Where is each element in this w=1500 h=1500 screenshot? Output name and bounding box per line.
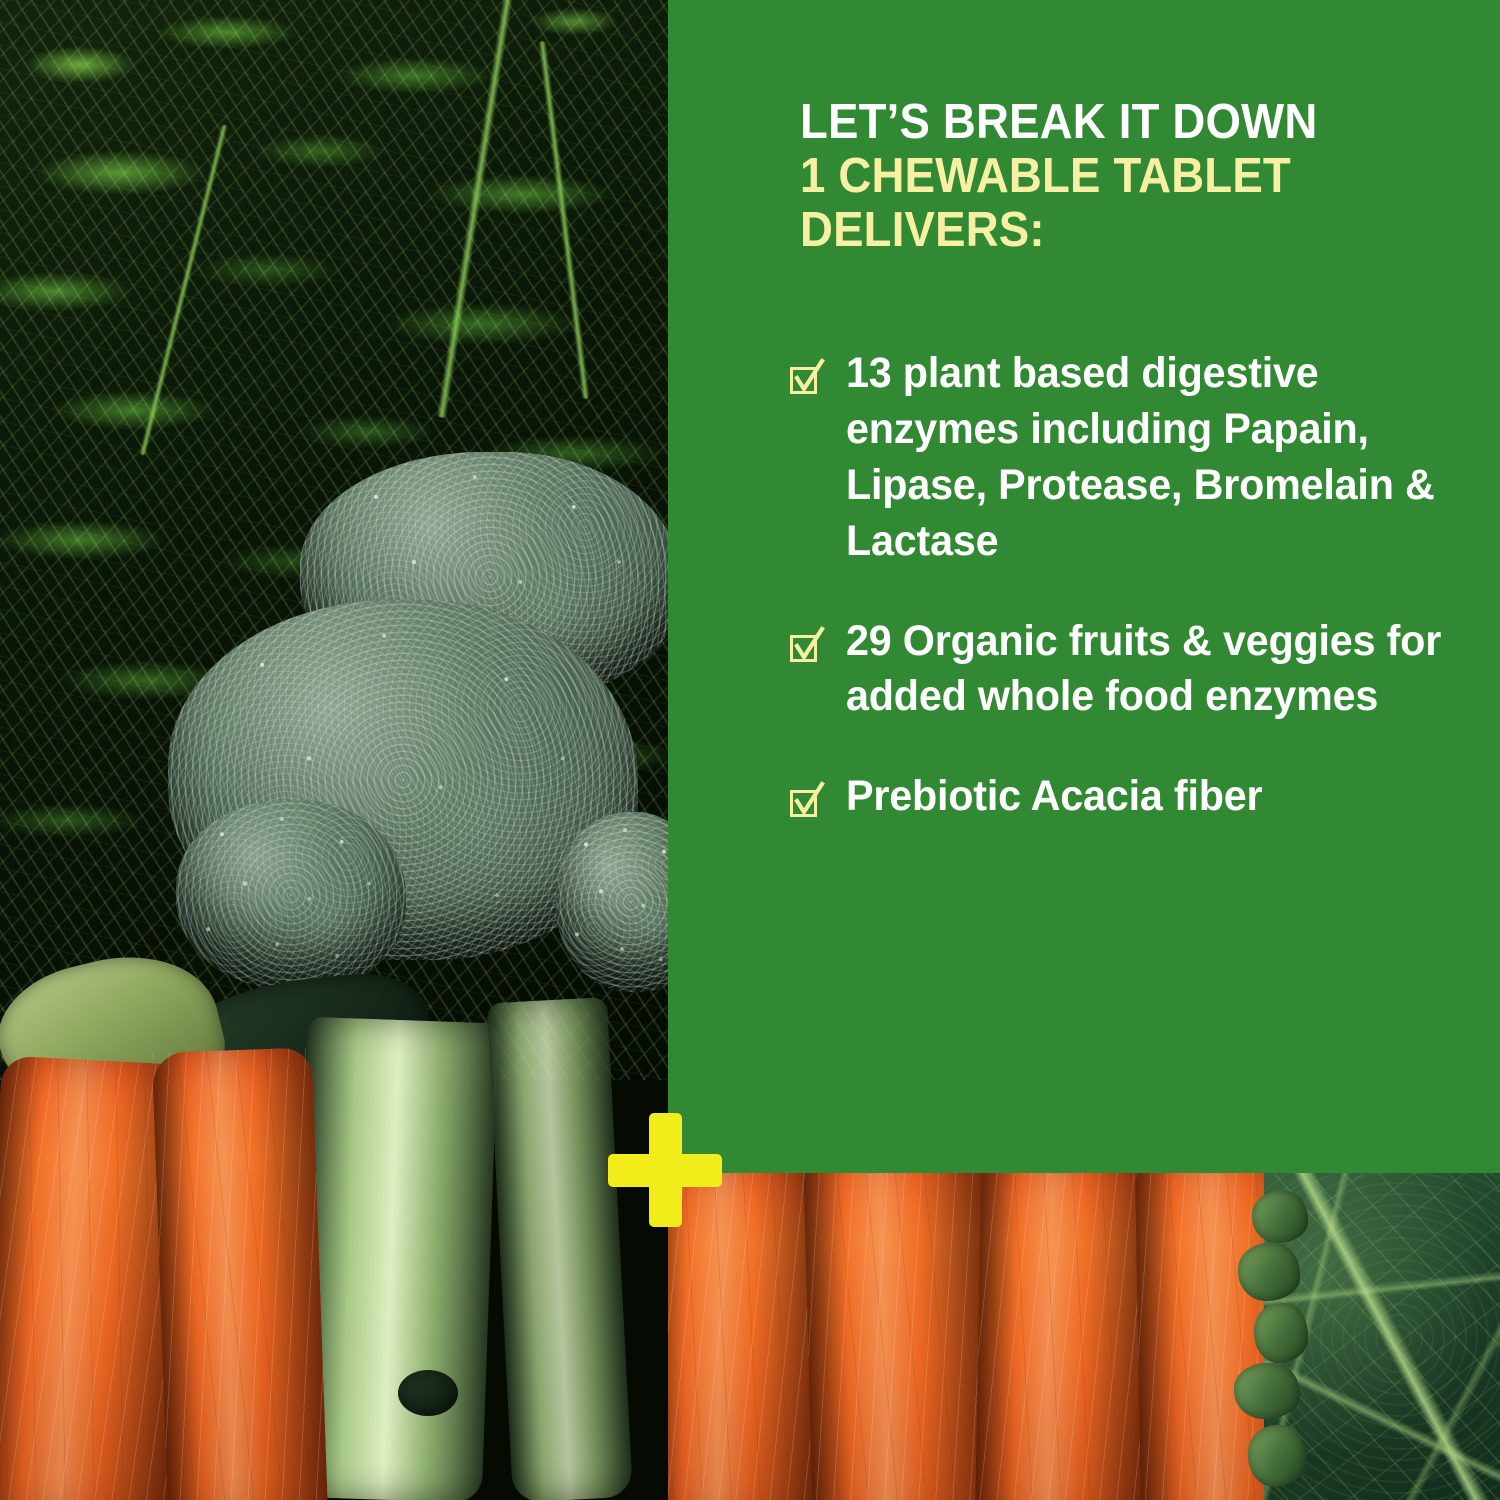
- bottom-right-vegetable-photo: [668, 1173, 1500, 1500]
- kale-frill-5: [1248, 1425, 1306, 1487]
- list-item: 29 Organic fruits & veggies for added wh…: [788, 614, 1488, 726]
- checked-checkbox-icon: [788, 782, 824, 822]
- heading-block: LET’S BREAK IT DOWN 1 CHEWABLE TABLET DE…: [800, 96, 1460, 258]
- list-item: 13 plant based digestive enzymes includi…: [788, 346, 1488, 570]
- heading-line-3: DELIVERS:: [800, 204, 1414, 258]
- kale-frill-4: [1234, 1363, 1300, 1419]
- kale-frill-1: [1252, 1191, 1308, 1243]
- list-item-label: 29 Organic fruits & veggies for added wh…: [846, 614, 1462, 726]
- kale-frill-2: [1238, 1243, 1300, 1301]
- benefit-list: 13 plant based digestive enzymes includi…: [788, 346, 1488, 825]
- broccoli-crown-light: [176, 800, 406, 990]
- carrot-left-2: [152, 1047, 328, 1500]
- list-item: Prebiotic Acacia fiber: [788, 769, 1488, 825]
- list-item-label: Prebiotic Acacia fiber: [846, 769, 1262, 825]
- carrot-br-2: [803, 1173, 993, 1500]
- list-item-label: 13 plant based digestive enzymes includi…: [846, 346, 1462, 570]
- green-content-panel: LET’S BREAK IT DOWN 1 CHEWABLE TABLET DE…: [668, 0, 1500, 1173]
- checked-checkbox-icon: [788, 627, 824, 667]
- carrot-br-3: [975, 1173, 1151, 1500]
- plus-icon: [608, 1113, 722, 1227]
- broccoli-leaf-spot-2: [398, 1370, 458, 1416]
- kale-frill-3: [1254, 1303, 1308, 1363]
- plus-icon-horizontal-bar: [608, 1154, 722, 1187]
- heading-line-2: 1 CHEWABLE TABLET: [800, 150, 1414, 204]
- product-infographic: LET’S BREAK IT DOWN 1 CHEWABLE TABLET DE…: [0, 0, 1500, 1500]
- left-vegetable-photo: [0, 0, 668, 1500]
- heading-line-1: LET’S BREAK IT DOWN: [800, 96, 1414, 150]
- checked-checkbox-icon: [788, 359, 824, 399]
